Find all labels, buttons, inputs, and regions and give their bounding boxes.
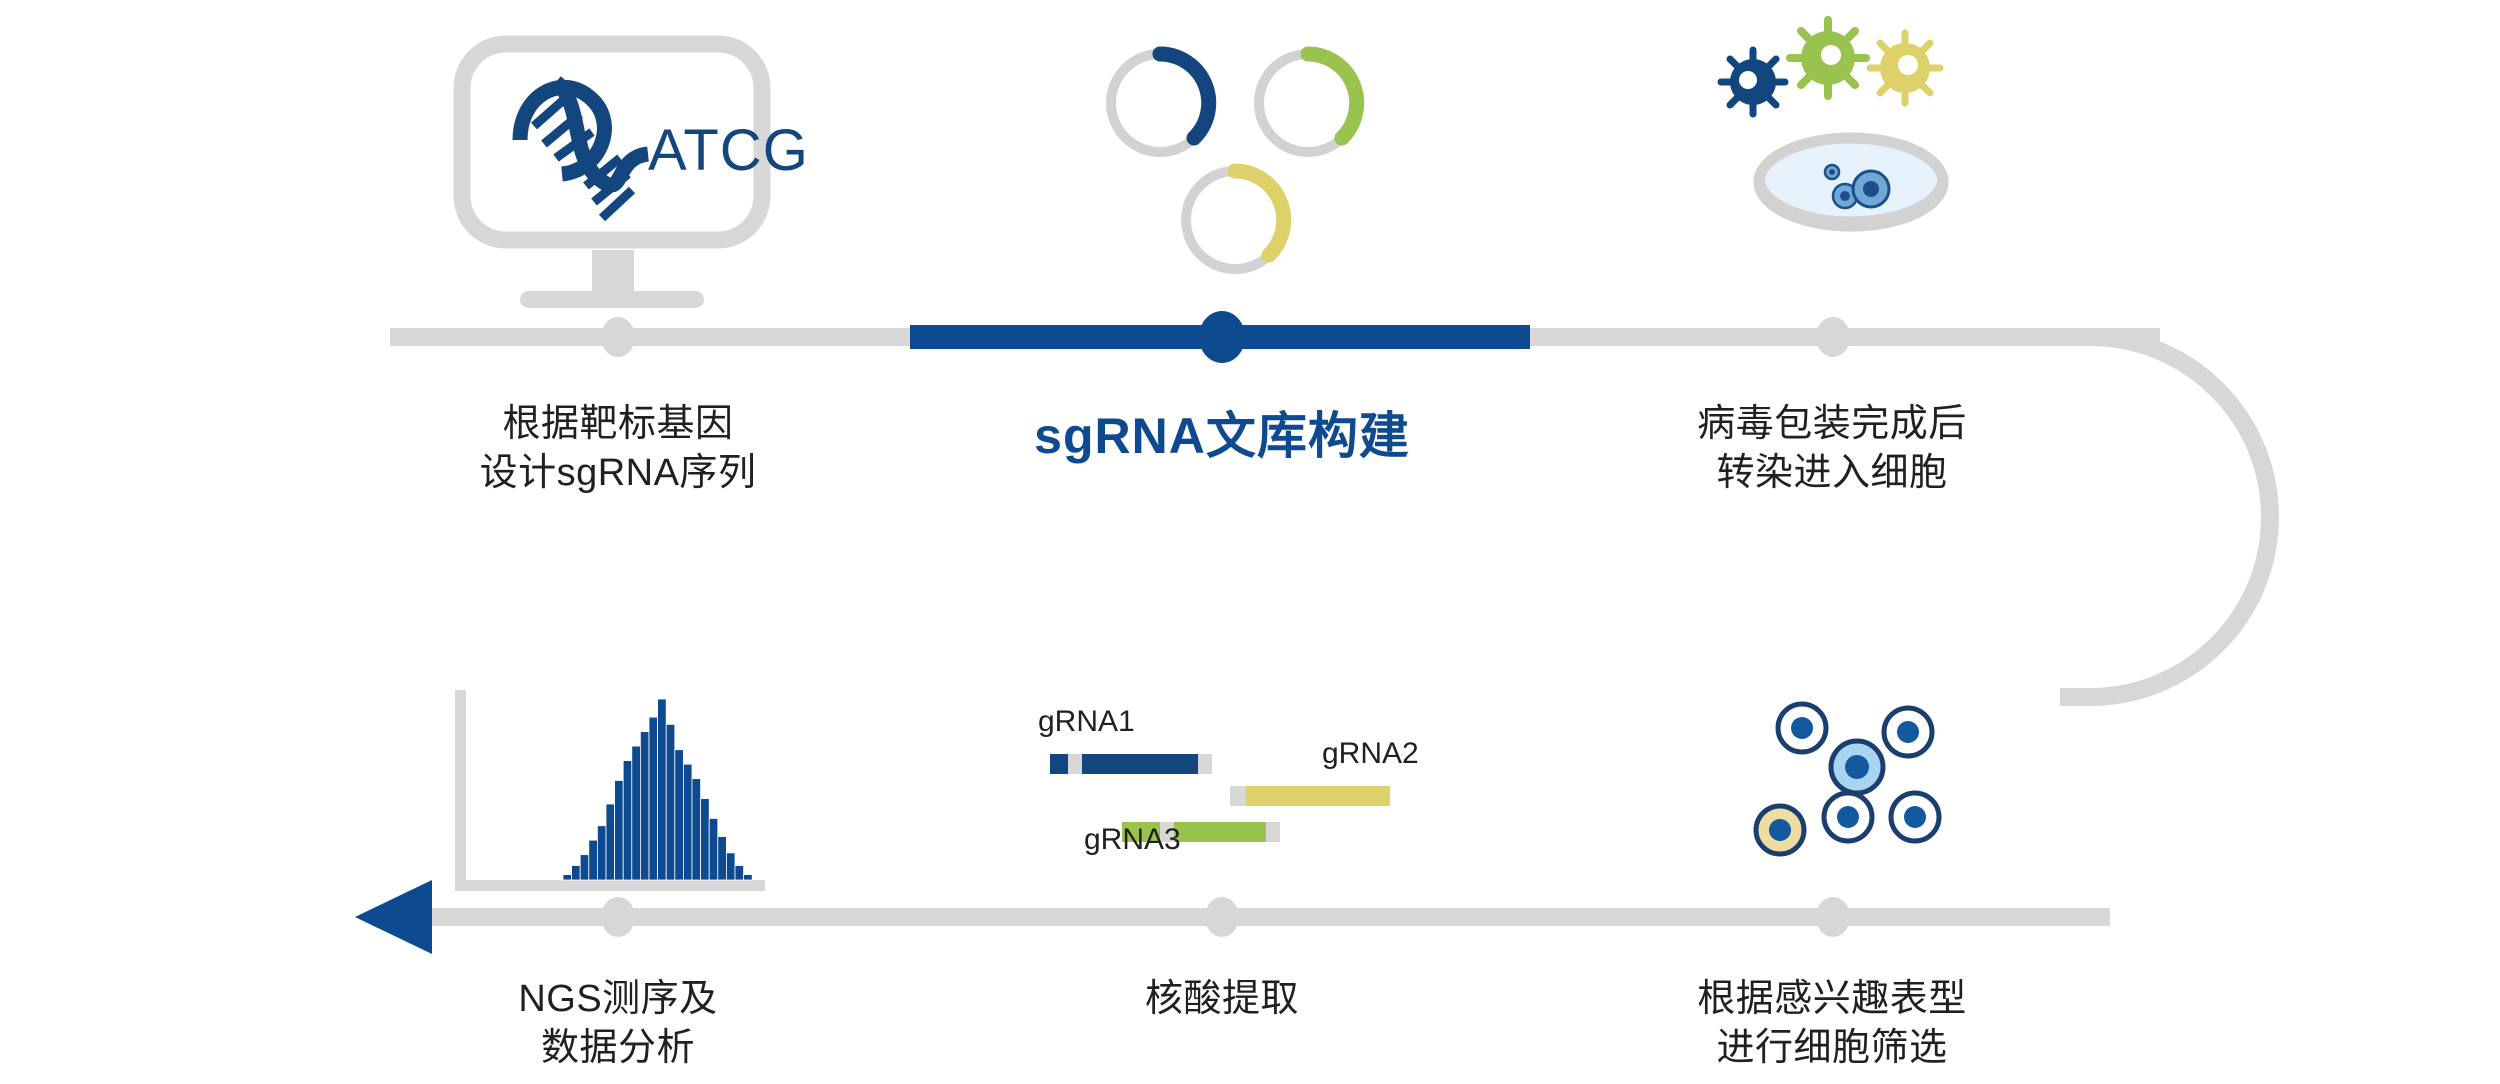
workflow-graphics: ATCG	[0, 0, 2500, 1084]
histogram-bar	[709, 818, 718, 880]
histogram-bar	[744, 875, 753, 880]
histogram-bar	[675, 750, 684, 880]
cell-highlighted-blue	[1831, 741, 1883, 793]
histogram-icon	[455, 690, 765, 891]
step-label-screen[interactable]: 根据感兴趣表型 进行细胞筛选	[1612, 975, 2052, 1072]
plasmid-yellow	[1186, 171, 1284, 269]
histogram-bar	[640, 732, 649, 880]
monitor-dna-icon: ATCG	[462, 44, 809, 308]
node-library[interactable]	[1199, 311, 1245, 363]
histogram-bar	[589, 840, 598, 880]
cells-icon	[1756, 704, 1939, 854]
cell-highlighted-yellow	[1756, 806, 1804, 854]
histogram-bar	[649, 717, 658, 880]
grna1-label: gRNA1	[1038, 705, 1135, 739]
histogram-bar	[683, 764, 692, 880]
grna-read-track-2	[1230, 786, 1390, 806]
histogram-bars	[563, 699, 752, 880]
histogram-bar	[658, 699, 667, 880]
plasmid-green	[1259, 54, 1357, 152]
node-design[interactable]	[601, 317, 635, 357]
node-extract[interactable]	[1205, 897, 1239, 937]
node-transfect[interactable]	[1816, 317, 1850, 357]
virus-yellow-icon	[1870, 33, 1940, 103]
histogram-bar	[666, 724, 675, 880]
step-label-extract[interactable]: 核酸提取	[1002, 975, 1442, 1024]
cell-4	[1891, 793, 1939, 841]
plasmid-circles-icon	[1111, 54, 1357, 269]
histogram-bar	[563, 875, 572, 880]
virus-petri-icon	[1721, 20, 1943, 226]
flow-arrow-icon	[355, 880, 432, 954]
grna-read-track-1	[1050, 754, 1212, 774]
monitor-base	[520, 291, 704, 308]
histogram-bar	[623, 761, 632, 880]
histogram-y-axis	[455, 690, 466, 880]
timeline-bottom-segment	[390, 908, 2110, 926]
timeline-uturn	[2060, 337, 2270, 697]
histogram-bar	[597, 826, 606, 880]
step-label-library[interactable]: sgRNA文库构建	[942, 404, 1502, 468]
workflow-diagram: ATCG	[0, 0, 2500, 1084]
virus-green-icon	[1790, 20, 1866, 96]
cell-1	[1778, 704, 1826, 752]
histogram-x-axis	[455, 880, 765, 891]
histogram-bar	[718, 837, 727, 880]
histogram-bar	[692, 779, 701, 880]
histogram-bar	[580, 855, 589, 880]
histogram-bar	[701, 799, 710, 880]
plasmid-blue	[1111, 54, 1209, 152]
grna3-label: gRNA3	[1084, 823, 1181, 857]
cell-2	[1884, 708, 1932, 756]
histogram-bar	[735, 866, 744, 880]
step-label-design[interactable]: 根据靶标基因 设计sgRNA序列	[398, 400, 838, 497]
histogram-bar	[572, 866, 581, 880]
histogram-bar	[615, 780, 624, 880]
histogram-bar	[726, 853, 735, 880]
petri-dish-icon	[1759, 138, 1943, 226]
monitor-atcg-text: ATCG	[648, 118, 809, 183]
node-screen[interactable]	[1816, 897, 1850, 937]
monitor-neck	[592, 250, 634, 294]
histogram-bar	[632, 746, 641, 880]
step-label-transfect[interactable]: 病毒包装完成后 转染进入细胞	[1612, 400, 2052, 497]
step-label-ngs[interactable]: NGS测序及 数据分析	[398, 975, 838, 1072]
node-ngs[interactable]	[601, 897, 635, 937]
virus-blue-icon	[1721, 50, 1785, 114]
histogram-bar	[606, 804, 615, 880]
grna2-label: gRNA2	[1322, 737, 1419, 771]
cell-3	[1824, 793, 1872, 841]
